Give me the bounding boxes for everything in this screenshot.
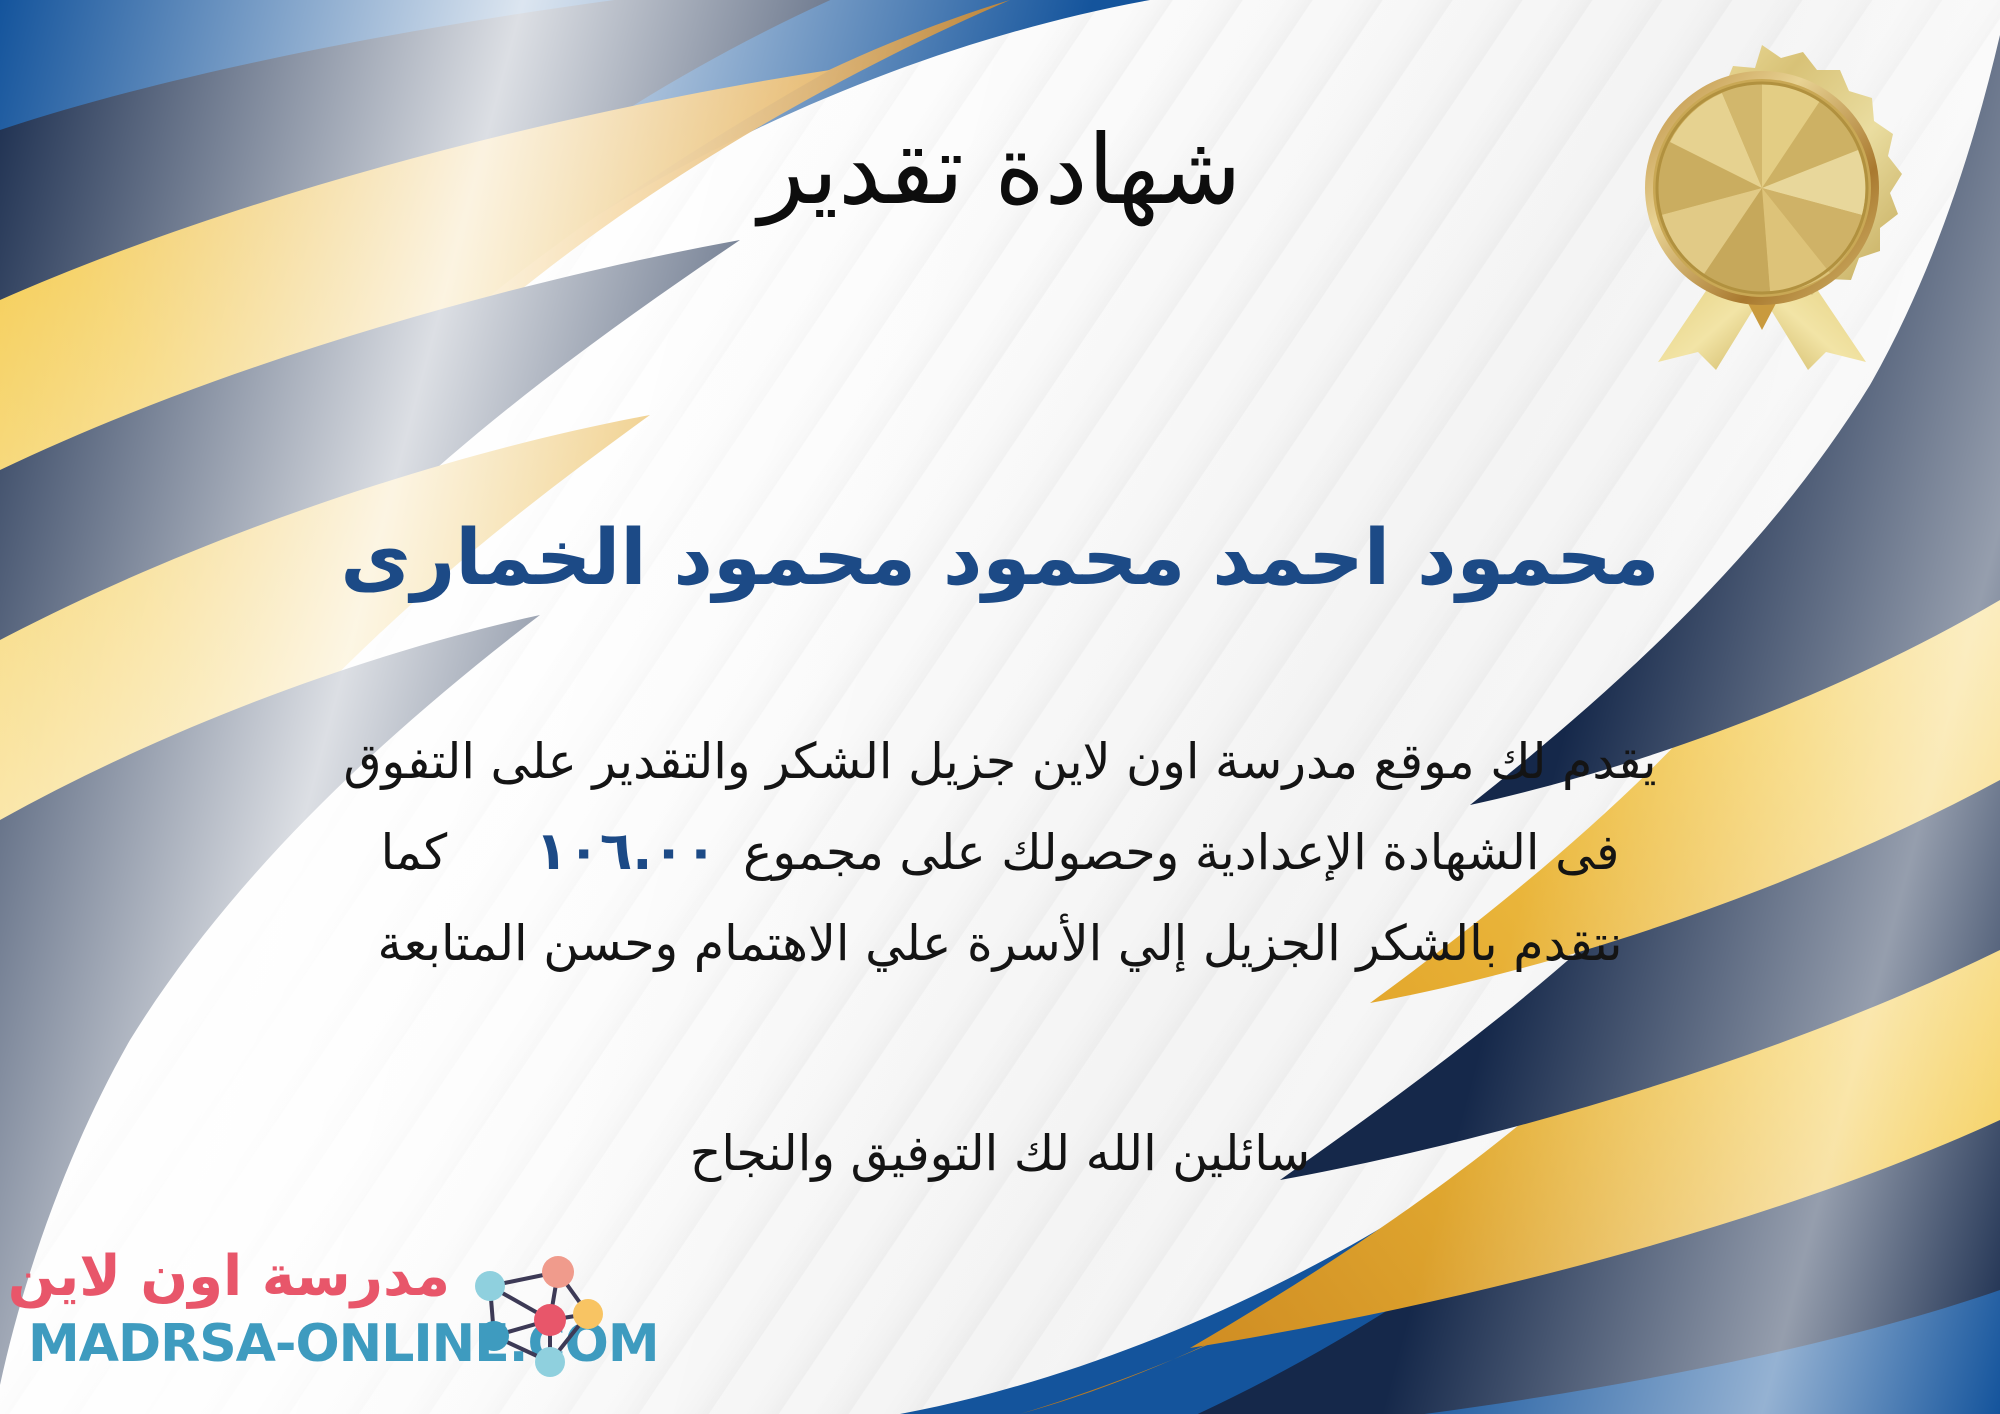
body-line-2-right: فى الشهادة الإعدادية وحصولك على مجموع (743, 824, 1619, 881)
logo-arabic-text: مدرسة اون لاين (8, 1244, 450, 1309)
site-logo[interactable]: مدرسة اون لاين MADRSA-ONLINE.COM (20, 1242, 620, 1392)
body-line-2-left: كما (381, 824, 448, 881)
total-score-value: ١٠٦.٠٠ (509, 821, 743, 882)
certificate-canvas: شهادة تقدير محمود احمد محمود محمود الخما… (0, 0, 2000, 1414)
student-name: محمود احمد محمود محمود الخمارى (0, 515, 2000, 604)
body-line-1: يقدم لك موقع مدرسة اون لاين جزيل الشكر و… (40, 718, 1960, 805)
body-line-2: فى الشهادة الإعدادية وحصولك على مجموع١٠٦… (40, 805, 1960, 899)
closing-line: سائلين الله لك التوفيق والنجاح (0, 1115, 2000, 1193)
body-line-3: نتقدم بالشكر الجزيل إلي الأسرة علي الاهت… (40, 900, 1960, 987)
certificate-body: يقدم لك موقع مدرسة اون لاين جزيل الشكر و… (40, 718, 1960, 987)
network-nodes-icon (462, 1250, 612, 1382)
gold-award-medal-icon (1612, 40, 1912, 370)
